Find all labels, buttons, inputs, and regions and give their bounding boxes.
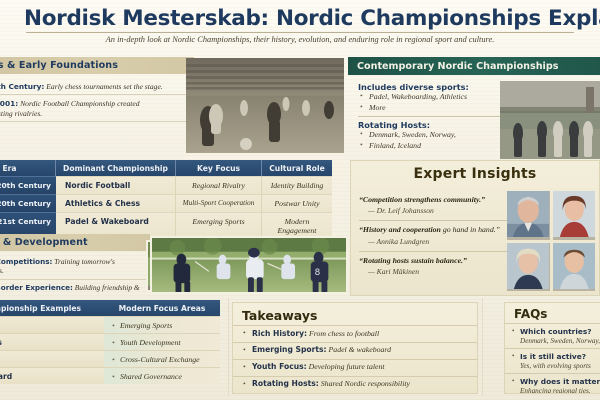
expert-quotes-list: “Competition strengthens community.” — D… [359, 191, 509, 281]
expert-portraits-grid [507, 191, 595, 291]
expert-quote-author: — Dr. Leif Johansson [359, 206, 509, 215]
col-modern-focus-areas: Modern Focus Areas [104, 300, 220, 316]
faqs-title: FAQs [505, 303, 600, 323]
takeaway-text: Shared Nordic responsibility [321, 379, 410, 388]
era-table-col-dominant: Dominant Championship [56, 160, 176, 176]
page-subtitle: An in-depth look at Nordic Championships… [24, 35, 576, 44]
youth-item-label: Cross-Border Experience: [0, 283, 73, 292]
expert-quote-text: “Rotating hosts sustain balance.” [359, 256, 509, 265]
svg-text:8: 8 [315, 268, 321, 278]
youth-item-label: Youth Competitions: [0, 257, 52, 266]
section-divider [482, 298, 483, 396]
youth-heading: Youth & Development [0, 234, 150, 251]
team-lacrosse-photo: 8 [150, 236, 348, 294]
origins-item: Late 19th Century: Early chess tournamen… [0, 78, 188, 95]
origins-panel: Origins & Early Foundations Late 19th Ce… [0, 57, 194, 125]
section-divider [228, 298, 229, 396]
title-divider [26, 32, 574, 33]
contemporary-list-item-cont: Finland, Iceland [358, 141, 600, 152]
table-row: Padel Cross-Cultural Exchange [0, 350, 220, 367]
examples-focus-header-row: Championship Examples Modern Focus Areas [0, 300, 220, 316]
portrait-woman-red [553, 191, 596, 240]
faq-question: Which countries? [520, 327, 600, 336]
portrait-older-man [507, 191, 550, 240]
faq-question: Is it still active? [520, 352, 600, 361]
focus-cell: Regional Rivalry [176, 176, 262, 194]
contemporary-heading: Contemporary Nordic Championships [348, 57, 600, 75]
table-row: Wakeboard Shared Governance [0, 367, 220, 384]
portrait-young-man [553, 243, 596, 292]
example-cell: Athletics [0, 333, 104, 350]
faq-answer: Enhancing regional ties. [520, 387, 600, 394]
expert-quote-author: — Annika Lundgren [359, 237, 509, 246]
faq-answer: Denmark, Sweden, Norway, Finland, Icelan… [520, 337, 600, 345]
origins-item-label: 1900s–2001: [0, 99, 18, 108]
origins-item-text: Nordic Football Championship created [20, 99, 139, 108]
faq-answer: Yes, with evolving sports [520, 362, 600, 370]
youth-item: Youth Competitions: Training tomorrow's … [0, 254, 146, 280]
era-cell: Mid 20th Century [0, 194, 56, 212]
role-cell: Postwar Unity [262, 194, 332, 212]
expert-quote: “History and cooperation go hand in hand… [359, 221, 509, 251]
faqs-panel: FAQs Which countries? Denmark, Sweden, N… [504, 302, 600, 394]
expert-insights-title: Expert Insights [351, 161, 599, 185]
era-cell: Early 20th Century [0, 176, 56, 194]
example-cell: Chess [0, 316, 104, 333]
examples-focus-table: Championship Examples Modern Focus Areas… [0, 300, 220, 384]
table-row: Early 20th Century Nordic Football Regio… [0, 176, 332, 194]
origins-item: 1900s–2001: Nordic Football Championship… [0, 95, 188, 122]
col-championship-examples: Championship Examples [0, 300, 104, 316]
takeaway-label: Rich History: [252, 329, 307, 338]
contemporary-list-item: Padel, Wakeboarding, Athletics [358, 92, 600, 103]
youth-development-panel: Youth & Development Youth Competitions: … [0, 234, 150, 308]
focus-area-cell: Shared Governance [104, 367, 220, 384]
faq-item: Is it still active? Yes, with evolving s… [505, 348, 600, 373]
contemporary-panel: Contemporary Nordic Championships [348, 57, 600, 155]
era-table-col-focus: Key Focus [176, 160, 262, 176]
expert-quote-author: — Kari Mäkinen [359, 267, 509, 276]
table-row: Athletics Youth Development [0, 333, 220, 350]
page-title: Nordisk Mesterskab: Nordic Championships… [24, 6, 576, 31]
dominant-cell: Nordic Football [56, 176, 176, 194]
takeaway-item: Youth Focus: Developing future talent [233, 359, 477, 376]
contemporary-list-item: Denmark, Sweden, Norway, [358, 130, 600, 141]
table-row: Chess Emerging Sports [0, 316, 220, 333]
takeaway-item: Emerging Sports: Padel & wakeboard [233, 342, 477, 359]
era-table-col-era: Era [0, 160, 56, 176]
portrait-blonde-woman [507, 243, 550, 292]
faq-item: Which countries? Denmark, Sweden, Norway… [505, 323, 600, 348]
era-table-col-role: Cultural Role [262, 160, 332, 176]
dominant-cell: Athletics & Chess [56, 194, 176, 212]
origins-item-text: Early chess tournaments set the stage. [46, 82, 162, 91]
expert-quote: “Rotating hosts sustain balance.” — Kari… [359, 252, 509, 281]
focus-area-cell: Youth Development [104, 333, 220, 350]
vintage-football-match-photo [186, 58, 344, 153]
faq-item: Why does it matter? Enhancing regional t… [505, 373, 600, 394]
takeaway-label: Emerging Sports: [252, 345, 327, 354]
expert-quote-text: “History and cooperation go hand in hand… [359, 225, 509, 234]
expert-quote: “Competition strengthens community.” — D… [359, 191, 509, 221]
table-row: Mid 20th Century Athletics & Chess Multi… [0, 194, 332, 212]
origins-heading: Origins & Early Foundations [0, 57, 194, 74]
focus-area-cell: Cross-Cultural Exchange [104, 350, 220, 367]
era-table: Era Dominant Championship Key Focus Cult… [0, 160, 332, 239]
expert-insights-panel: Expert Insights “Competition strengthens… [350, 160, 600, 296]
takeaway-text: Developing future talent [309, 362, 385, 371]
origins-item-label: Late 19th Century: [0, 82, 44, 91]
contemporary-list-item: More [358, 103, 600, 114]
expert-quote-text: “Competition strengthens community.” [359, 195, 509, 204]
takeaway-text: Padel & wakeboard [329, 345, 392, 354]
takeaway-label: Rotating Hosts: [252, 379, 319, 388]
example-cell: Wakeboard [0, 367, 104, 384]
takeaway-item: Rotating Hosts: Shared Nordic responsibi… [233, 376, 477, 393]
focus-cell: Multi-Sport Cooperation [176, 194, 262, 212]
role-cell: Identity Building [262, 176, 332, 194]
faq-question: Why does it matter? [520, 377, 600, 386]
origins-item-subtext: lasting rivalries. [0, 109, 188, 118]
example-cell: Padel [0, 350, 104, 367]
page-header: Nordisk Mesterskab: Nordic Championships… [0, 0, 600, 50]
focus-area-cell: Emerging Sports [104, 316, 220, 333]
takeaway-item: Rich History: From chess to football [233, 325, 477, 342]
focus-cell: Emerging Sports [176, 212, 262, 239]
era-table-header-row: Era Dominant Championship Key Focus Cult… [0, 160, 332, 176]
takeaways-title: Takeaways [233, 303, 477, 325]
takeaways-panel: Takeaways Rich History: From chess to fo… [232, 302, 478, 394]
takeaway-label: Youth Focus: [252, 362, 307, 371]
role-cell: Modern Engagement [262, 212, 332, 239]
takeaway-text: From chess to football [309, 329, 379, 338]
